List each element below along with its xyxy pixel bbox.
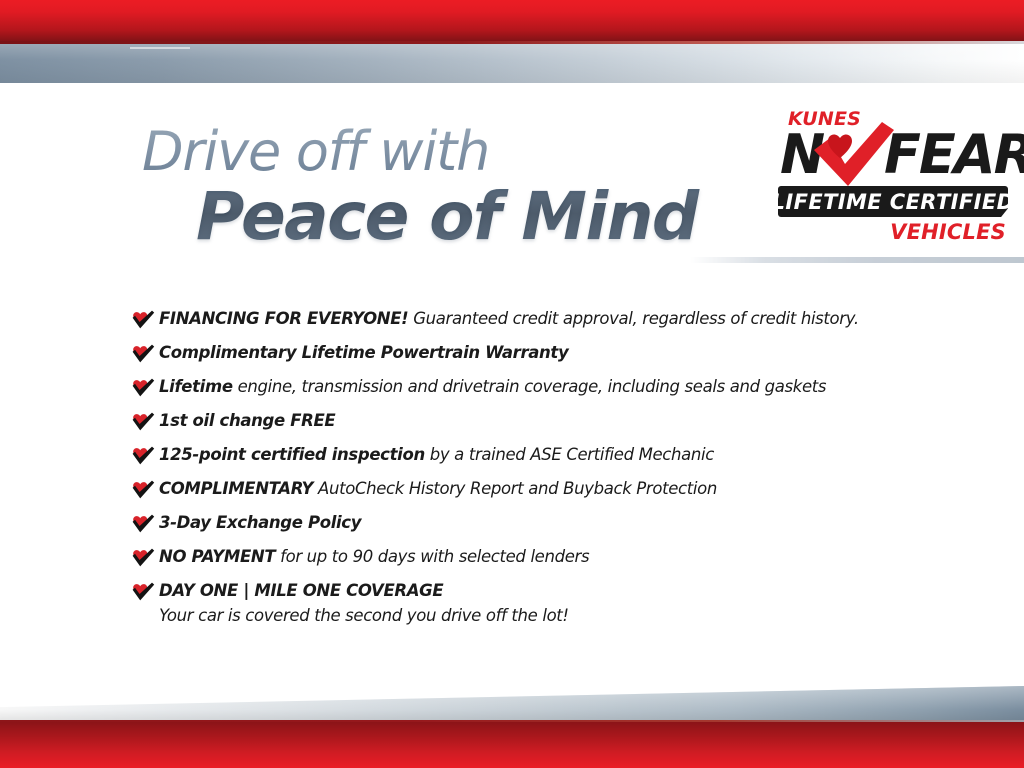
heart-check-icon [130,342,156,366]
headline-line-2: Peace of Mind [196,182,742,252]
list-item-detail: by a trained ASE Certified Mechanic [425,445,714,464]
list-item-detail: for up to 90 days with selected lenders [275,547,589,566]
promo-page: Drive off with Peace of Mind KUNES N FEA… [0,0,1024,768]
logo-word-vehicles: VEHICLES [890,220,1006,244]
benefits-list: FINANCING FOR EVERYONE! Guaranteed credi… [130,308,960,627]
header-divider [690,257,1024,263]
bottom-gray-band-shading [0,686,1024,720]
heart-check-icon [130,444,156,468]
logo-word-fear: FEAR [884,128,1024,182]
list-item-text: DAY ONE | MILE ONE COVERAGE [159,580,443,602]
list-item-emphasis: Lifetime [159,377,233,396]
list-item: 3-Day Exchange Policy [130,512,960,536]
list-item-emphasis: Complimentary Lifetime Powertrain Warran… [159,343,568,362]
heart-check-icon [130,410,156,434]
logo-banner-text: LIFETIME CERTIFIED [772,190,1015,214]
list-item-text: 3-Day Exchange Policy [159,512,361,534]
list-item-detail: Guaranteed credit approval, regardless o… [408,309,858,328]
kunes-no-fear-logo: KUNES N FEAR LIFETIME CERTIFIED VEHICLES [778,108,1010,244]
list-item-emphasis: FINANCING FOR EVERYONE! [159,309,408,328]
list-item-text: COMPLIMENTARY AutoCheck History Report a… [159,478,717,500]
list-item-main-row: DAY ONE | MILE ONE COVERAGE [130,580,960,604]
list-item-emphasis: 125-point certified inspection [159,445,425,464]
list-item: NO PAYMENT for up to 90 days with select… [130,546,960,570]
logo-wordmark: N FEAR [780,128,1010,186]
list-item-text: Lifetime engine, transmission and drivet… [159,376,826,398]
list-item-emphasis: 1st oil change FREE [159,411,335,430]
top-red-band [0,0,1024,42]
heart-check-icon [130,546,156,570]
headline-line-1: Drive off with [142,124,742,180]
list-item: Complimentary Lifetime Powertrain Warran… [130,342,960,366]
heart-check-icon [130,376,156,400]
top-gray-highlight [130,47,190,49]
list-item-emphasis: NO PAYMENT [159,547,275,566]
list-item-text: NO PAYMENT for up to 90 days with select… [159,546,589,568]
list-item-text: Complimentary Lifetime Powertrain Warran… [159,342,568,364]
list-item-subtext: Your car is covered the second you drive… [159,605,960,627]
list-item-text: 1st oil change FREE [159,410,335,432]
list-item: 1st oil change FREE [130,410,960,434]
list-item-emphasis: 3-Day Exchange Policy [159,513,361,532]
heart-check-icon [130,580,156,604]
list-item-emphasis: DAY ONE | MILE ONE COVERAGE [159,581,443,600]
heart-check-icon [130,512,156,536]
list-item: FINANCING FOR EVERYONE! Guaranteed credi… [130,308,960,332]
heart-check-icon [130,308,156,332]
bottom-red-band [0,722,1024,768]
list-item: DAY ONE | MILE ONE COVERAGE Your car is … [130,580,960,627]
headline-block: Drive off with Peace of Mind [142,124,742,252]
list-item-detail: AutoCheck History Report and Buyback Pro… [313,479,717,498]
list-item: Lifetime engine, transmission and drivet… [130,376,960,400]
list-item: COMPLIMENTARY AutoCheck History Report a… [130,478,960,502]
list-item-text: FINANCING FOR EVERYONE! Guaranteed credi… [159,308,859,330]
list-item-detail: engine, transmission and drivetrain cove… [233,377,826,396]
heart-check-icon [130,478,156,502]
list-item-text: 125-point certified inspection by a trai… [159,444,714,466]
list-item: 125-point certified inspection by a trai… [130,444,960,468]
logo-certified-banner: LIFETIME CERTIFIED [778,186,1008,217]
top-gray-band-shading [0,44,1024,83]
list-item-emphasis: COMPLIMENTARY [159,479,313,498]
